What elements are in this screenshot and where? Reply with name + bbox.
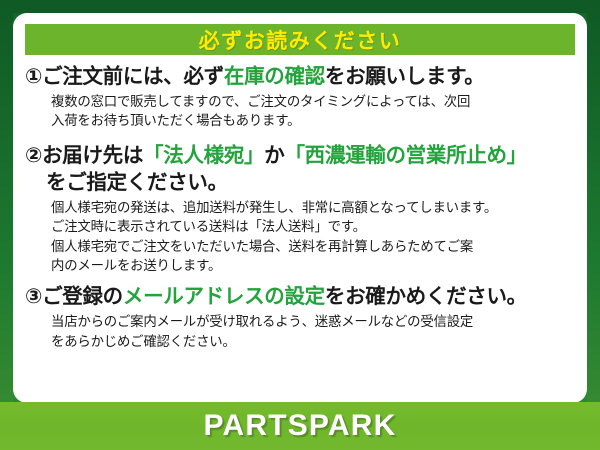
heading-continuation: をご指定ください。 (25, 169, 577, 196)
frame-top-edge (0, 0, 600, 13)
body-line: をあらかじめご確認ください。 (51, 332, 577, 351)
notice-card: 必ずお読みください ①ご注文前には、必ず在庫の確認をお願いします。 複数の窓口で… (0, 0, 600, 450)
notice-body: 複数の窓口で販売してますので、ご注文のタイミングによっては、次回 入荷をお待ち頂… (25, 92, 577, 131)
body-line: 個人様宅宛の発送は、追加送料が発生し、非常に高額となってしまいます。 (51, 198, 577, 217)
notice-marker: ③ (25, 285, 42, 308)
heading-segment: をお願いします。 (325, 65, 485, 88)
body-line: 複数の窓口で販売してますので、ご注文のタイミングによっては、次回 (51, 92, 577, 111)
body-line: ご注文時に表示されている送料は「法人送料」です。 (51, 217, 577, 236)
header-band: 必ずお読みください (25, 24, 575, 55)
heading-highlight: メールアドレスの設定 (123, 285, 325, 308)
page-title: 必ずお読みください (199, 25, 402, 55)
heading-segment: か (264, 144, 284, 167)
notice-item: ②お届け先は「法人様宛」か「西濃運輸の営業所止め」をご指定ください。 個人様宅宛… (25, 142, 577, 276)
heading-highlight: 「法人様宛」 (143, 144, 264, 167)
body-line: 当店からのご案内メールが受け取れるよう、迷惑メールなどの受信設定 (51, 312, 577, 331)
section-spacer (25, 134, 577, 142)
heading-segment: ご注文前には、必ず (42, 65, 224, 88)
notice-heading: ②お届け先は「法人様宛」か「西濃運輸の営業所止め」をご指定ください。 (25, 142, 577, 196)
notice-marker: ① (25, 65, 42, 88)
notice-body: 個人様宅宛の発送は、追加送料が発生し、非常に高額となってしまいます。 ご注文時に… (25, 198, 577, 276)
notice-body: 当店からのご案内メールが受け取れるよう、迷惑メールなどの受信設定 をあらかじめご… (25, 312, 577, 351)
heading-highlight: 「西濃運輸の営業所止め」 (284, 144, 526, 167)
frame-left-edge (0, 0, 13, 450)
frame-right-edge (587, 0, 600, 450)
notice-item: ①ご注文前には、必ず在庫の確認をお願いします。 複数の窓口で販売してますので、ご… (25, 63, 577, 131)
body-line: 内のメールをお送りします。 (51, 256, 577, 275)
notice-heading: ①ご注文前には、必ず在庫の確認をお願いします。 (25, 63, 577, 90)
brand-logo: PARTSPARK (203, 409, 396, 443)
footer-band: PARTSPARK (0, 402, 600, 450)
heading-highlight: 在庫の確認 (224, 65, 325, 88)
heading-segment: ご登録の (42, 285, 123, 308)
notice-marker: ② (25, 144, 42, 167)
notice-heading: ③ご登録のメールアドレスの設定をお確かめください。 (25, 283, 577, 310)
heading-segment: をお確かめください。 (325, 285, 527, 308)
white-panel: 必ずお読みください ①ご注文前には、必ず在庫の確認をお願いします。 複数の窓口で… (13, 13, 587, 403)
notice-item: ③ご登録のメールアドレスの設定をお確かめください。 当店からのご案内メールが受け… (25, 283, 577, 351)
body-line: 個人様宅宛でご注文をいただいた場合、送料を再計算しあらためてご案 (51, 237, 577, 256)
heading-segment: お届け先は (42, 144, 143, 167)
notice-list: ①ご注文前には、必ず在庫の確認をお願いします。 複数の窓口で販売してますので、ご… (13, 63, 587, 354)
body-line: 入荷をお待ち頂いただく場合もあります。 (51, 111, 577, 130)
